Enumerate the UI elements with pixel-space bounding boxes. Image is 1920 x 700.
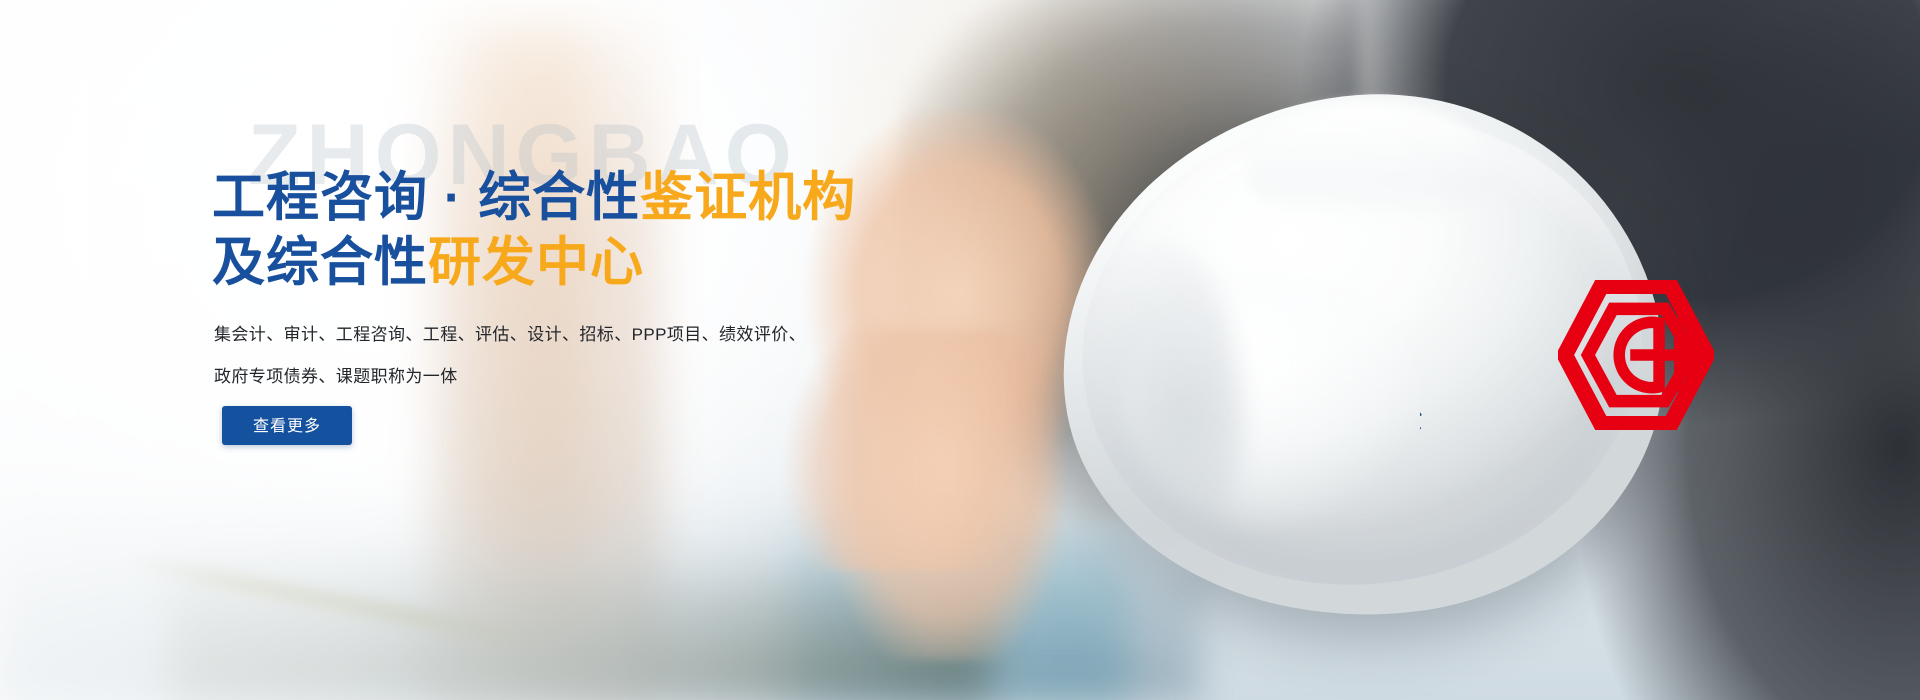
banner-description: 集会计、审计、工程咨询、工程、评估、设计、招标、PPP项目、绩效评价、 政府专项… xyxy=(214,314,806,397)
headline-line-2-primary: 及综合性 xyxy=(212,233,428,292)
banner-description-line-2: 政府专项债券、课题职称为一体 xyxy=(214,356,806,398)
view-more-button[interactable]: 查看更多 xyxy=(222,406,352,445)
headline-line-1-accent: 鉴证机构 xyxy=(640,168,856,227)
headline: 工程咨询 · 综合性鉴证机构 及综合性研发中心 xyxy=(212,166,856,295)
headline-line-2: 及综合性研发中心 xyxy=(212,231,856,296)
headline-line-2-accent: 研发中心 xyxy=(428,233,644,292)
headline-line-1: 工程咨询 · 综合性鉴证机构 xyxy=(212,166,856,231)
hero-banner: 中宝工程管理 ZHONGBAO 工程咨询 · xyxy=(0,0,1920,700)
banner-content: ZHONGBAO 工程咨询 · 综合性鉴证机构 及综合性研发中心 集会计、审计、… xyxy=(0,0,1920,700)
headline-line-1-primary: 工程咨询 · 综合性 xyxy=(212,168,640,227)
banner-description-line-1: 集会计、审计、工程咨询、工程、评估、设计、招标、PPP项目、绩效评价、 xyxy=(214,314,806,356)
